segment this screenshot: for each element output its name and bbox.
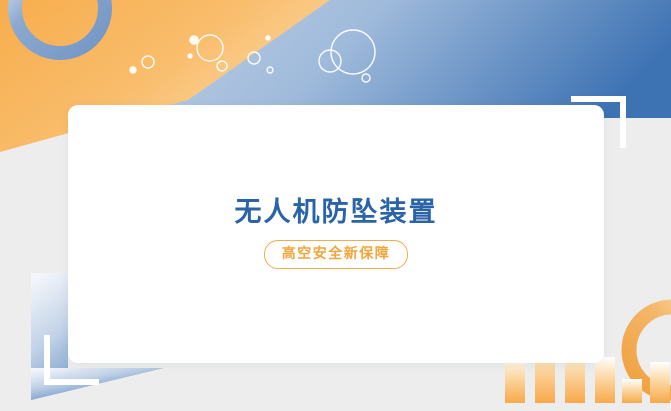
content-card-inner: 无人机防坠装置 高空安全新保障	[68, 105, 604, 363]
bubble-orange-dot-d-icon	[266, 36, 270, 40]
decor-bar-4	[595, 357, 615, 403]
ring-top-left-icon	[15, 0, 105, 53]
poster-canvas: 无人机防坠装置 高空安全新保障	[0, 0, 671, 411]
blue-wedge-shape	[96, 0, 671, 118]
bubble-mid-a-icon	[248, 52, 260, 64]
ring-bottom-right-icon	[629, 307, 671, 393]
content-card: 无人机防坠装置 高空安全新保障	[68, 105, 604, 363]
bubble-orange-dot-b-icon	[130, 67, 136, 73]
blue-corner-polygon-tail	[31, 368, 163, 400]
bubble-orange-dot-a-icon	[188, 54, 192, 58]
decor-bar-6	[650, 362, 670, 403]
bubble-orange-large-icon	[197, 35, 223, 61]
bubble-blue-dot-icon	[362, 74, 370, 82]
bubble-orange-dot-c-icon	[142, 56, 154, 68]
page-title: 无人机防坠装置	[235, 199, 438, 226]
bubble-blue-small-icon	[319, 50, 341, 72]
bubble-orange-small-b-icon	[217, 61, 227, 71]
bubble-orange-small-a-icon	[190, 36, 198, 44]
subtitle-badge: 高空安全新保障	[264, 240, 409, 268]
bubble-mid-b-icon	[267, 67, 273, 73]
bubble-cluster	[130, 30, 375, 82]
bubble-blue-large-icon	[331, 30, 375, 74]
decor-bar-5	[622, 379, 642, 403]
